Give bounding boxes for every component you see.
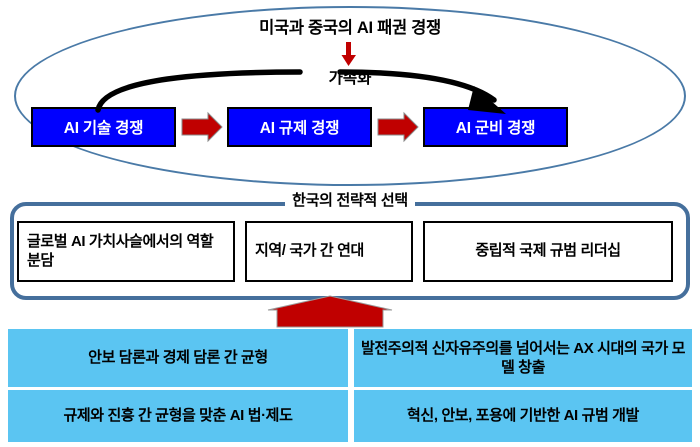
competition-stage-arms[interactable]: AI 군비 경쟁: [423, 107, 568, 147]
strategy-header-label: 한국의 전략적 선택: [285, 190, 415, 212]
acceleration-label: 가속화: [0, 66, 700, 88]
competition-stage-tech[interactable]: AI 기술 경쟁: [31, 107, 176, 147]
strategy-header-wrap: 한국의 전략적 선택: [0, 190, 700, 212]
foundation-item-ai-norms[interactable]: 혁신, 안보, 포용에 기반한 AI 규범 개발: [354, 390, 692, 442]
strategy-option-solidarity[interactable]: 지역/ 국가 간 연대: [245, 221, 413, 282]
foundation-item-ai-law[interactable]: 규제와 진흥 간 균형을 맞춘 AI 법·제도: [8, 390, 348, 442]
competition-title: 미국과 중국의 AI 패권 경쟁: [0, 14, 700, 38]
strategy-option-value-chain[interactable]: 글로벌 AI 가치사슬에서의 역할 분담: [17, 221, 235, 282]
strategy-option-norm-leadership[interactable]: 중립적 국제 규범 리더십: [423, 221, 673, 282]
foundation-item-ax-state-model[interactable]: 발전주의적 신자유주의를 넘어서는 AX 시대의 국가 모델 창출: [354, 329, 692, 387]
foundation-up-arrow-icon: [268, 296, 392, 327]
foundation-item-discourse-balance[interactable]: 안보 담론과 경제 담론 간 균형: [8, 329, 348, 387]
competition-stage-regulation[interactable]: AI 규제 경쟁: [227, 107, 372, 147]
diagram-canvas: 미국과 중국의 AI 패권 경쟁 가속화 AI 기술 경쟁 AI 규제 경쟁 A…: [0, 0, 700, 447]
